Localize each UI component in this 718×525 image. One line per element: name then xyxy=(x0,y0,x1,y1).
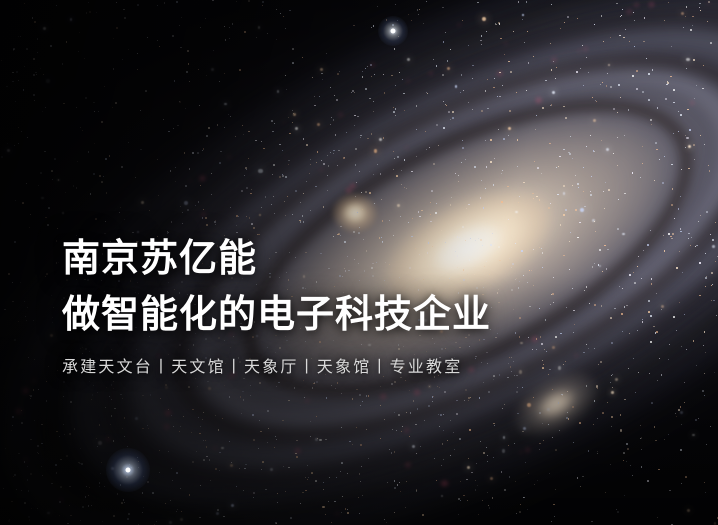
hero-subtitle: 承建天文台丨天文馆丨天象厅丨天象馆丨专业教室 xyxy=(62,360,662,376)
hero-title-line-2: 做智能化的电子科技企业 xyxy=(62,296,662,334)
hero-banner: 南京苏亿能 做智能化的电子科技企业 承建天文台丨天文馆丨天象厅丨天象馆丨专业教室 xyxy=(0,0,718,525)
hero-title-line-1: 南京苏亿能 xyxy=(62,240,662,278)
hero-copy: 南京苏亿能 做智能化的电子科技企业 承建天文台丨天文馆丨天象厅丨天象馆丨专业教室 xyxy=(62,240,662,376)
